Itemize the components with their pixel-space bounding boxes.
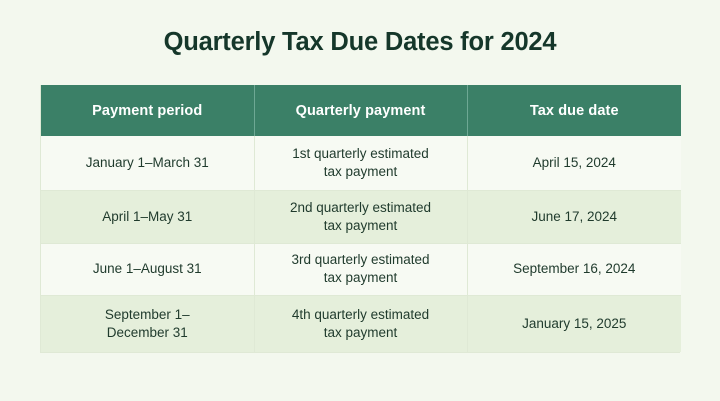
cell-quarterly-payment: 1st quarterly estimated tax payment [254, 136, 467, 190]
column-header-payment-period: Payment period [41, 85, 254, 136]
page-root: Quarterly Tax Due Dates for 2024 Payment… [0, 0, 720, 401]
cell-text-line: September 1– [49, 306, 246, 324]
cell-text-line: 3rd quarterly estimated [263, 251, 459, 269]
table-header-row: Payment period Quarterly payment Tax due… [41, 85, 681, 136]
cell-payment-period: January 1–March 31 [41, 136, 254, 190]
cell-text-line: January 1–March 31 [49, 154, 246, 172]
cell-quarterly-payment: 2nd quarterly estimated tax payment [254, 190, 467, 243]
cell-text-line: 4th quarterly estimated [263, 306, 459, 324]
cell-quarterly-payment: 4th quarterly estimated tax payment [254, 295, 467, 352]
cell-text-line: December 31 [49, 324, 246, 342]
cell-payment-period: April 1–May 31 [41, 190, 254, 243]
column-header-quarterly-payment: Quarterly payment [254, 85, 467, 136]
tax-due-dates-table: Payment period Quarterly payment Tax due… [41, 85, 681, 352]
cell-text-line: tax payment [263, 163, 459, 181]
table-row: June 1–August 31 3rd quarterly estimated… [41, 243, 681, 295]
cell-payment-period: June 1–August 31 [41, 243, 254, 295]
cell-text-line: tax payment [263, 324, 459, 342]
table-row: April 1–May 31 2nd quarterly estimated t… [41, 190, 681, 243]
cell-tax-due-date: April 15, 2024 [467, 136, 681, 190]
cell-text-line: June 1–August 31 [49, 260, 246, 278]
cell-tax-due-date: September 16, 2024 [467, 243, 681, 295]
table-header: Payment period Quarterly payment Tax due… [41, 85, 681, 136]
cell-tax-due-date: June 17, 2024 [467, 190, 681, 243]
cell-tax-due-date: January 15, 2025 [467, 295, 681, 352]
cell-quarterly-payment: 3rd quarterly estimated tax payment [254, 243, 467, 295]
tax-due-dates-table-container: Payment period Quarterly payment Tax due… [40, 85, 680, 353]
table-row: January 1–March 31 1st quarterly estimat… [41, 136, 681, 190]
cell-payment-period: September 1– December 31 [41, 295, 254, 352]
table-body: January 1–March 31 1st quarterly estimat… [41, 136, 681, 352]
cell-text-line: tax payment [263, 269, 459, 287]
table-row: September 1– December 31 4th quarterly e… [41, 295, 681, 352]
page-title: Quarterly Tax Due Dates for 2024 [0, 26, 720, 58]
cell-text-line: tax payment [263, 217, 459, 235]
cell-text-line: 1st quarterly estimated [263, 145, 459, 163]
cell-text-line: 2nd quarterly estimated [263, 199, 459, 217]
column-header-tax-due-date: Tax due date [467, 85, 681, 136]
cell-text-line: April 1–May 31 [49, 208, 246, 226]
